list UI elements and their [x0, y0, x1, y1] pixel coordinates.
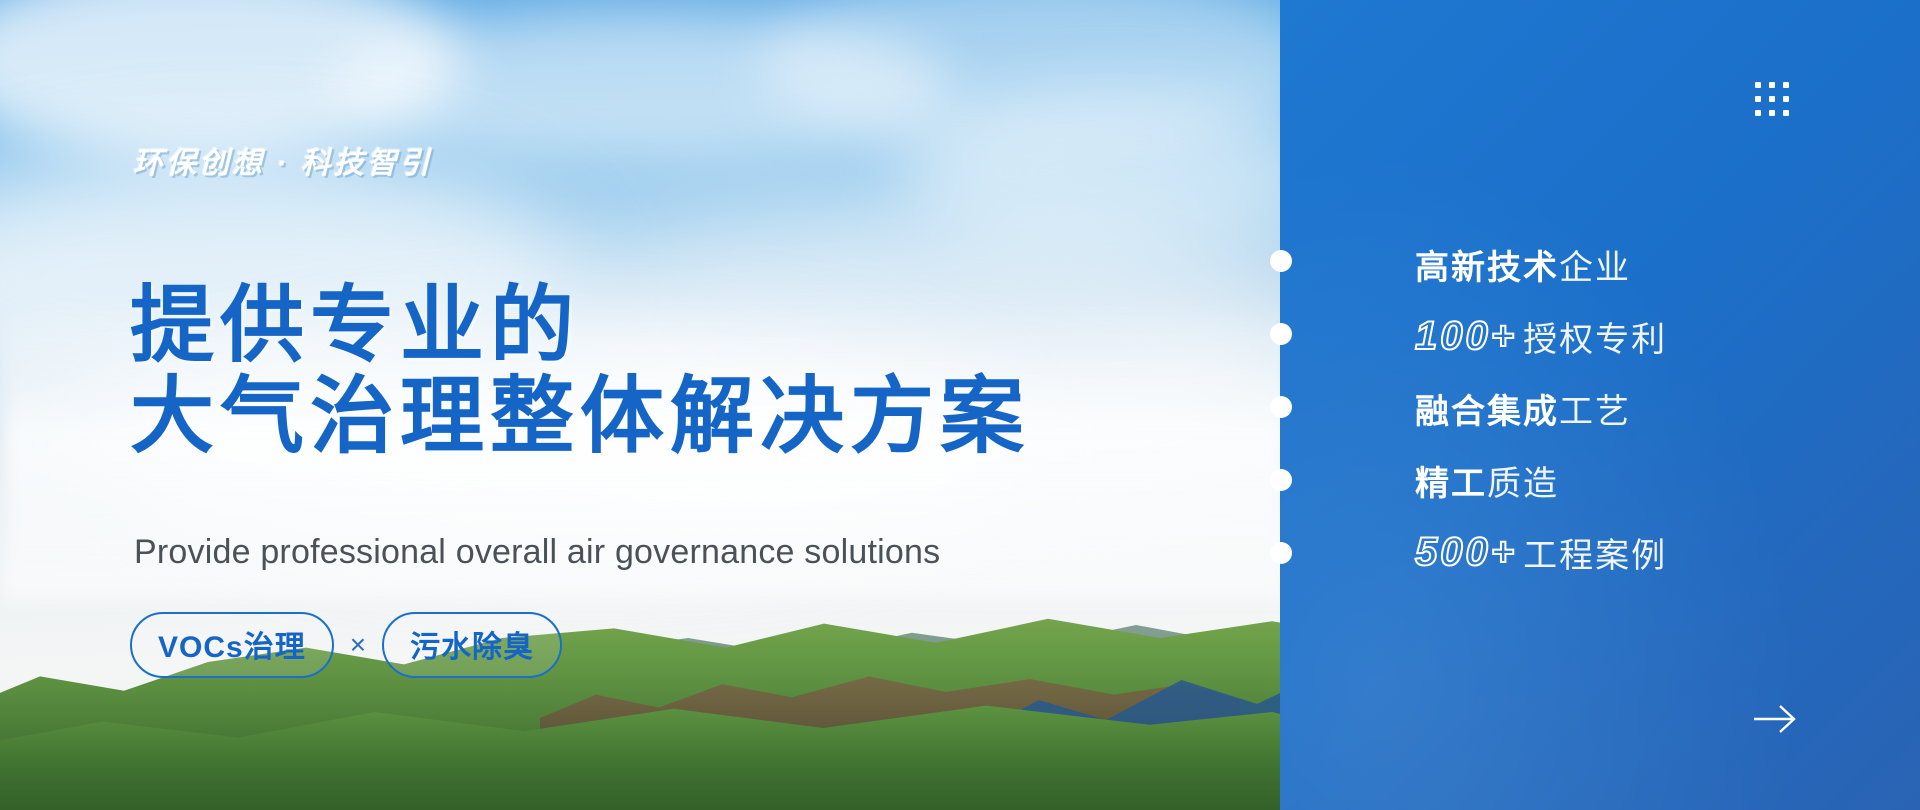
list-item-number: 100+: [1415, 314, 1517, 359]
list-item-light: 授权专利: [1523, 312, 1667, 361]
grid-dot: [1769, 82, 1775, 88]
list-item-light: 企业: [1559, 240, 1631, 289]
edge-dot: [1270, 542, 1292, 564]
grid-dot: [1755, 96, 1761, 102]
tag-pill-odor[interactable]: 污水除臭: [382, 612, 562, 678]
arrow-right-icon[interactable]: [1752, 702, 1798, 736]
edge-dot: [1270, 396, 1292, 418]
list-item[interactable]: 高新技术 企业: [1415, 228, 1845, 300]
list-item-strong: 融合集成: [1415, 384, 1559, 433]
grid-dot: [1769, 110, 1775, 116]
subtitle: Provide professional overall air governa…: [134, 533, 940, 572]
hero-banner: 环保创想 · 科技智引 提供专业的 大气治理整体解决方案 Provide pro…: [0, 0, 1920, 810]
headline-line-2: 大气治理整体解决方案: [130, 371, 1030, 462]
page-title: 提供专业的 大气治理整体解决方案: [130, 280, 1030, 461]
headline-line-1: 提供专业的: [130, 280, 1030, 371]
grid-dot: [1783, 110, 1789, 116]
edge-dot: [1270, 250, 1292, 272]
list-item-light: 质造: [1487, 456, 1559, 505]
panel-feature-list: 高新技术 企业 100+ 授权专利 融合集成 工艺 精工 质造 500+ 工程案…: [1415, 228, 1845, 588]
panel-edge-dots: [1281, 0, 1305, 810]
tag-pill-vocs[interactable]: VOCs治理: [130, 612, 334, 678]
tag-pill-group: VOCs治理 × 污水除臭: [130, 612, 562, 678]
grid-dot: [1783, 82, 1789, 88]
list-item[interactable]: 精工 质造: [1415, 444, 1845, 516]
list-item-strong: 精工: [1415, 456, 1487, 505]
pill-separator: ×: [350, 629, 366, 661]
grid-dot: [1755, 82, 1761, 88]
edge-dot: [1270, 323, 1292, 345]
list-item-strong: 高新技术: [1415, 240, 1559, 289]
list-item-light: 工程案例: [1523, 528, 1667, 577]
grid-dot: [1755, 110, 1761, 116]
list-item-light: 工艺: [1559, 384, 1631, 433]
grid-dot: [1769, 96, 1775, 102]
list-item-number: 500+: [1415, 530, 1517, 575]
grid-dot: [1783, 96, 1789, 102]
edge-dot: [1270, 469, 1292, 491]
app-grid-icon[interactable]: [1755, 82, 1791, 118]
list-item[interactable]: 100+ 授权专利: [1415, 300, 1845, 372]
tagline: 环保创想 · 科技智引: [133, 138, 433, 182]
list-item[interactable]: 融合集成 工艺: [1415, 372, 1845, 444]
list-item[interactable]: 500+ 工程案例: [1415, 516, 1845, 588]
